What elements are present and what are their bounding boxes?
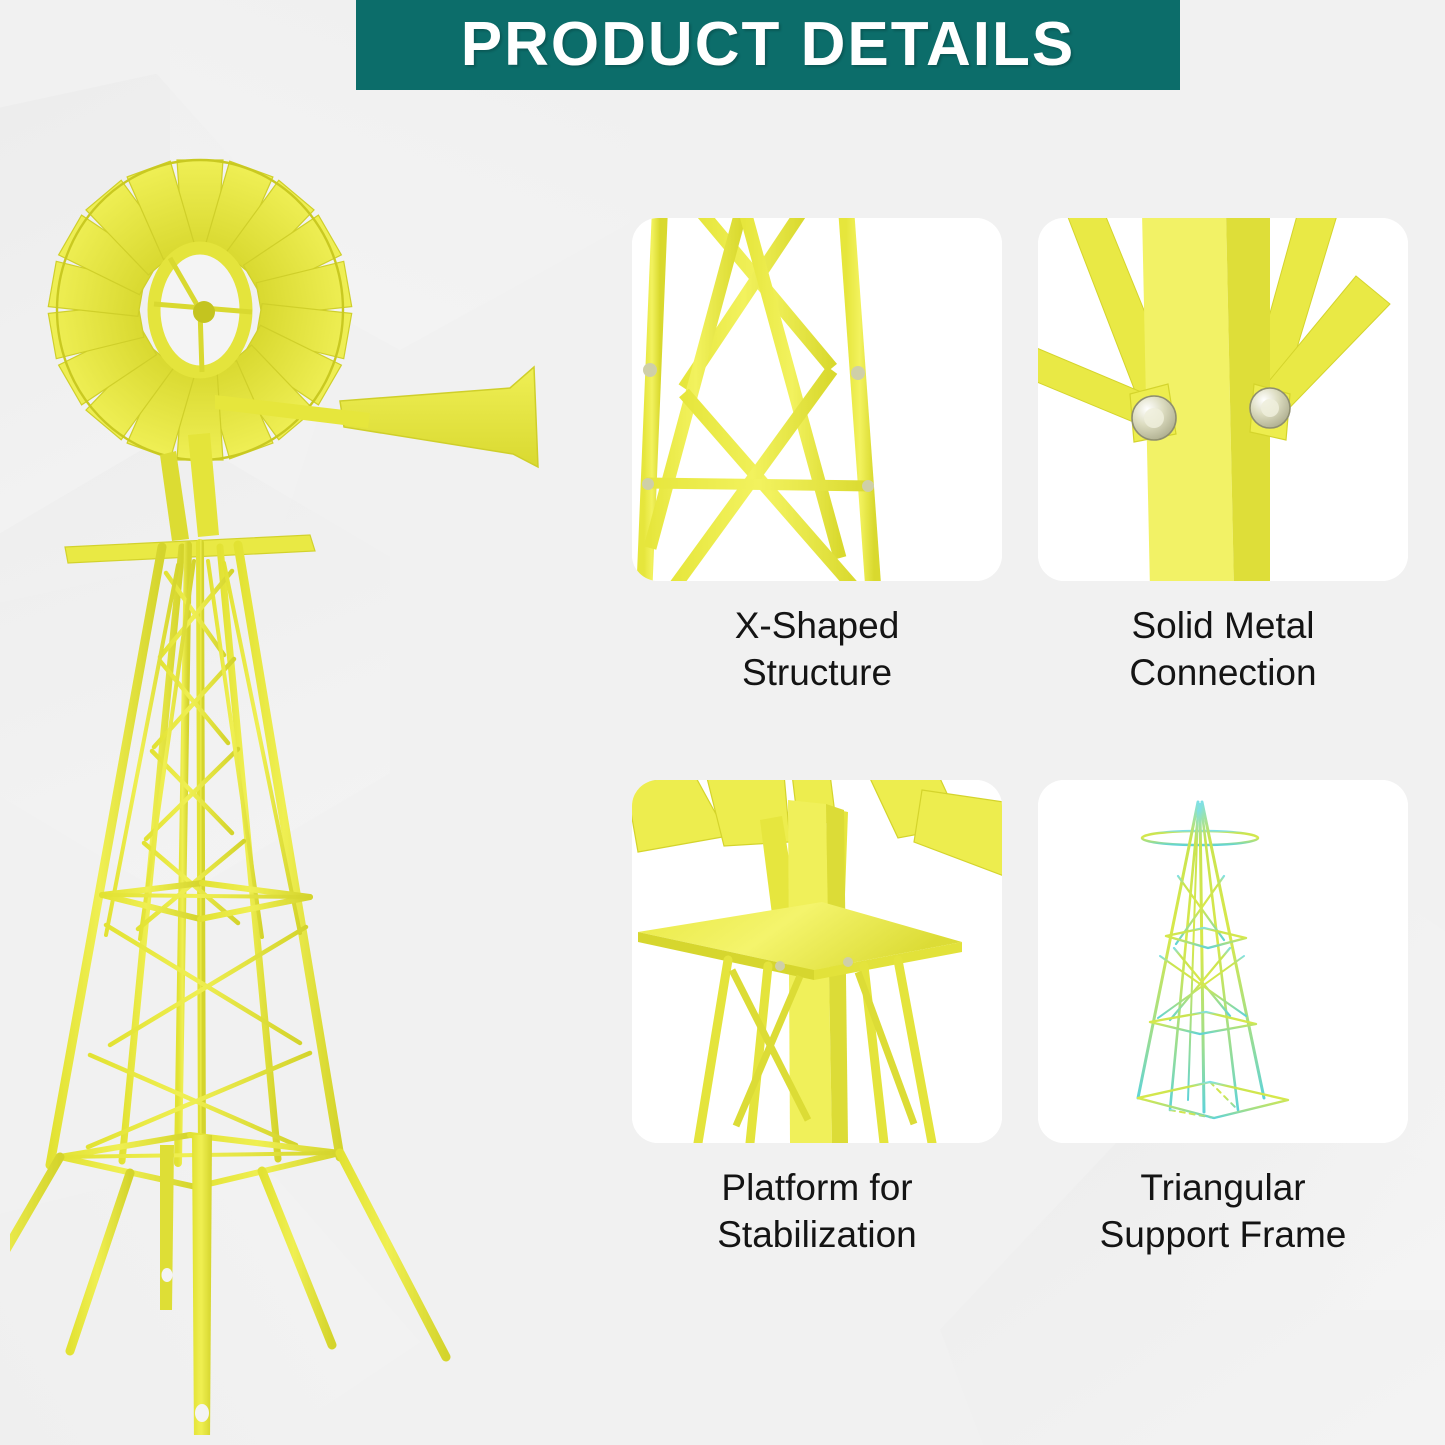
tower-legs bbox=[10, 1153, 446, 1367]
hero-product-image bbox=[10, 95, 610, 1435]
fan-hub-center bbox=[193, 301, 215, 323]
leg-back-right bbox=[262, 1171, 332, 1345]
product-details-banner: PRODUCT DETAILS bbox=[356, 0, 1180, 90]
panel-caption: X-Shaped Structure bbox=[632, 603, 1002, 696]
tail-vane-plate bbox=[340, 367, 538, 467]
caption-line-1: X-Shaped bbox=[632, 603, 1002, 650]
detail-panel-solid-metal-connection[interactable]: Solid Metal Connection bbox=[1038, 218, 1408, 696]
page-title: PRODUCT DETAILS bbox=[461, 14, 1075, 76]
windmill-illustration bbox=[10, 95, 610, 1435]
panel-caption: Platform for Stabilization bbox=[632, 1165, 1002, 1258]
center-ground-stake bbox=[160, 1135, 212, 1435]
tower-lattice bbox=[50, 543, 340, 1187]
panel-image-card bbox=[632, 218, 1002, 581]
caption-line-2: Stabilization bbox=[632, 1212, 1002, 1259]
detail-panel-grid: X-Shaped Structure bbox=[632, 218, 1408, 1293]
product-details-page: PRODUCT DETAILS bbox=[0, 0, 1445, 1445]
bolted-joint-closeup-icon bbox=[1038, 218, 1408, 581]
caption-line-2: Connection bbox=[1038, 650, 1408, 697]
x-brace-closeup-icon bbox=[632, 218, 1002, 581]
leg-back-left bbox=[70, 1173, 130, 1351]
panel-caption: Triangular Support Frame bbox=[1038, 1165, 1408, 1258]
caption-line-2: Structure bbox=[632, 650, 1002, 697]
detail-panel-triangular-support-frame[interactable]: Triangular Support Frame bbox=[1038, 780, 1408, 1258]
leg-front-right bbox=[340, 1153, 446, 1357]
caption-line-1: Platform for bbox=[632, 1165, 1002, 1212]
detail-panel-x-shaped-structure[interactable]: X-Shaped Structure bbox=[632, 218, 1002, 696]
wireframe-tower-diagram-icon bbox=[1038, 780, 1408, 1143]
detail-panel-platform-for-stabilization[interactable]: Platform for Stabilization bbox=[632, 780, 1002, 1258]
panel-image-card bbox=[632, 780, 1002, 1143]
leg-front-left bbox=[10, 1157, 60, 1367]
caption-line-2: Support Frame bbox=[1038, 1212, 1408, 1259]
caption-line-1: Triangular bbox=[1038, 1165, 1408, 1212]
caption-line-1: Solid Metal bbox=[1038, 603, 1408, 650]
platform-closeup-icon bbox=[632, 780, 1002, 1143]
panel-image-card bbox=[1038, 780, 1408, 1143]
panel-caption: Solid Metal Connection bbox=[1038, 603, 1408, 696]
panel-image-card bbox=[1038, 218, 1408, 581]
